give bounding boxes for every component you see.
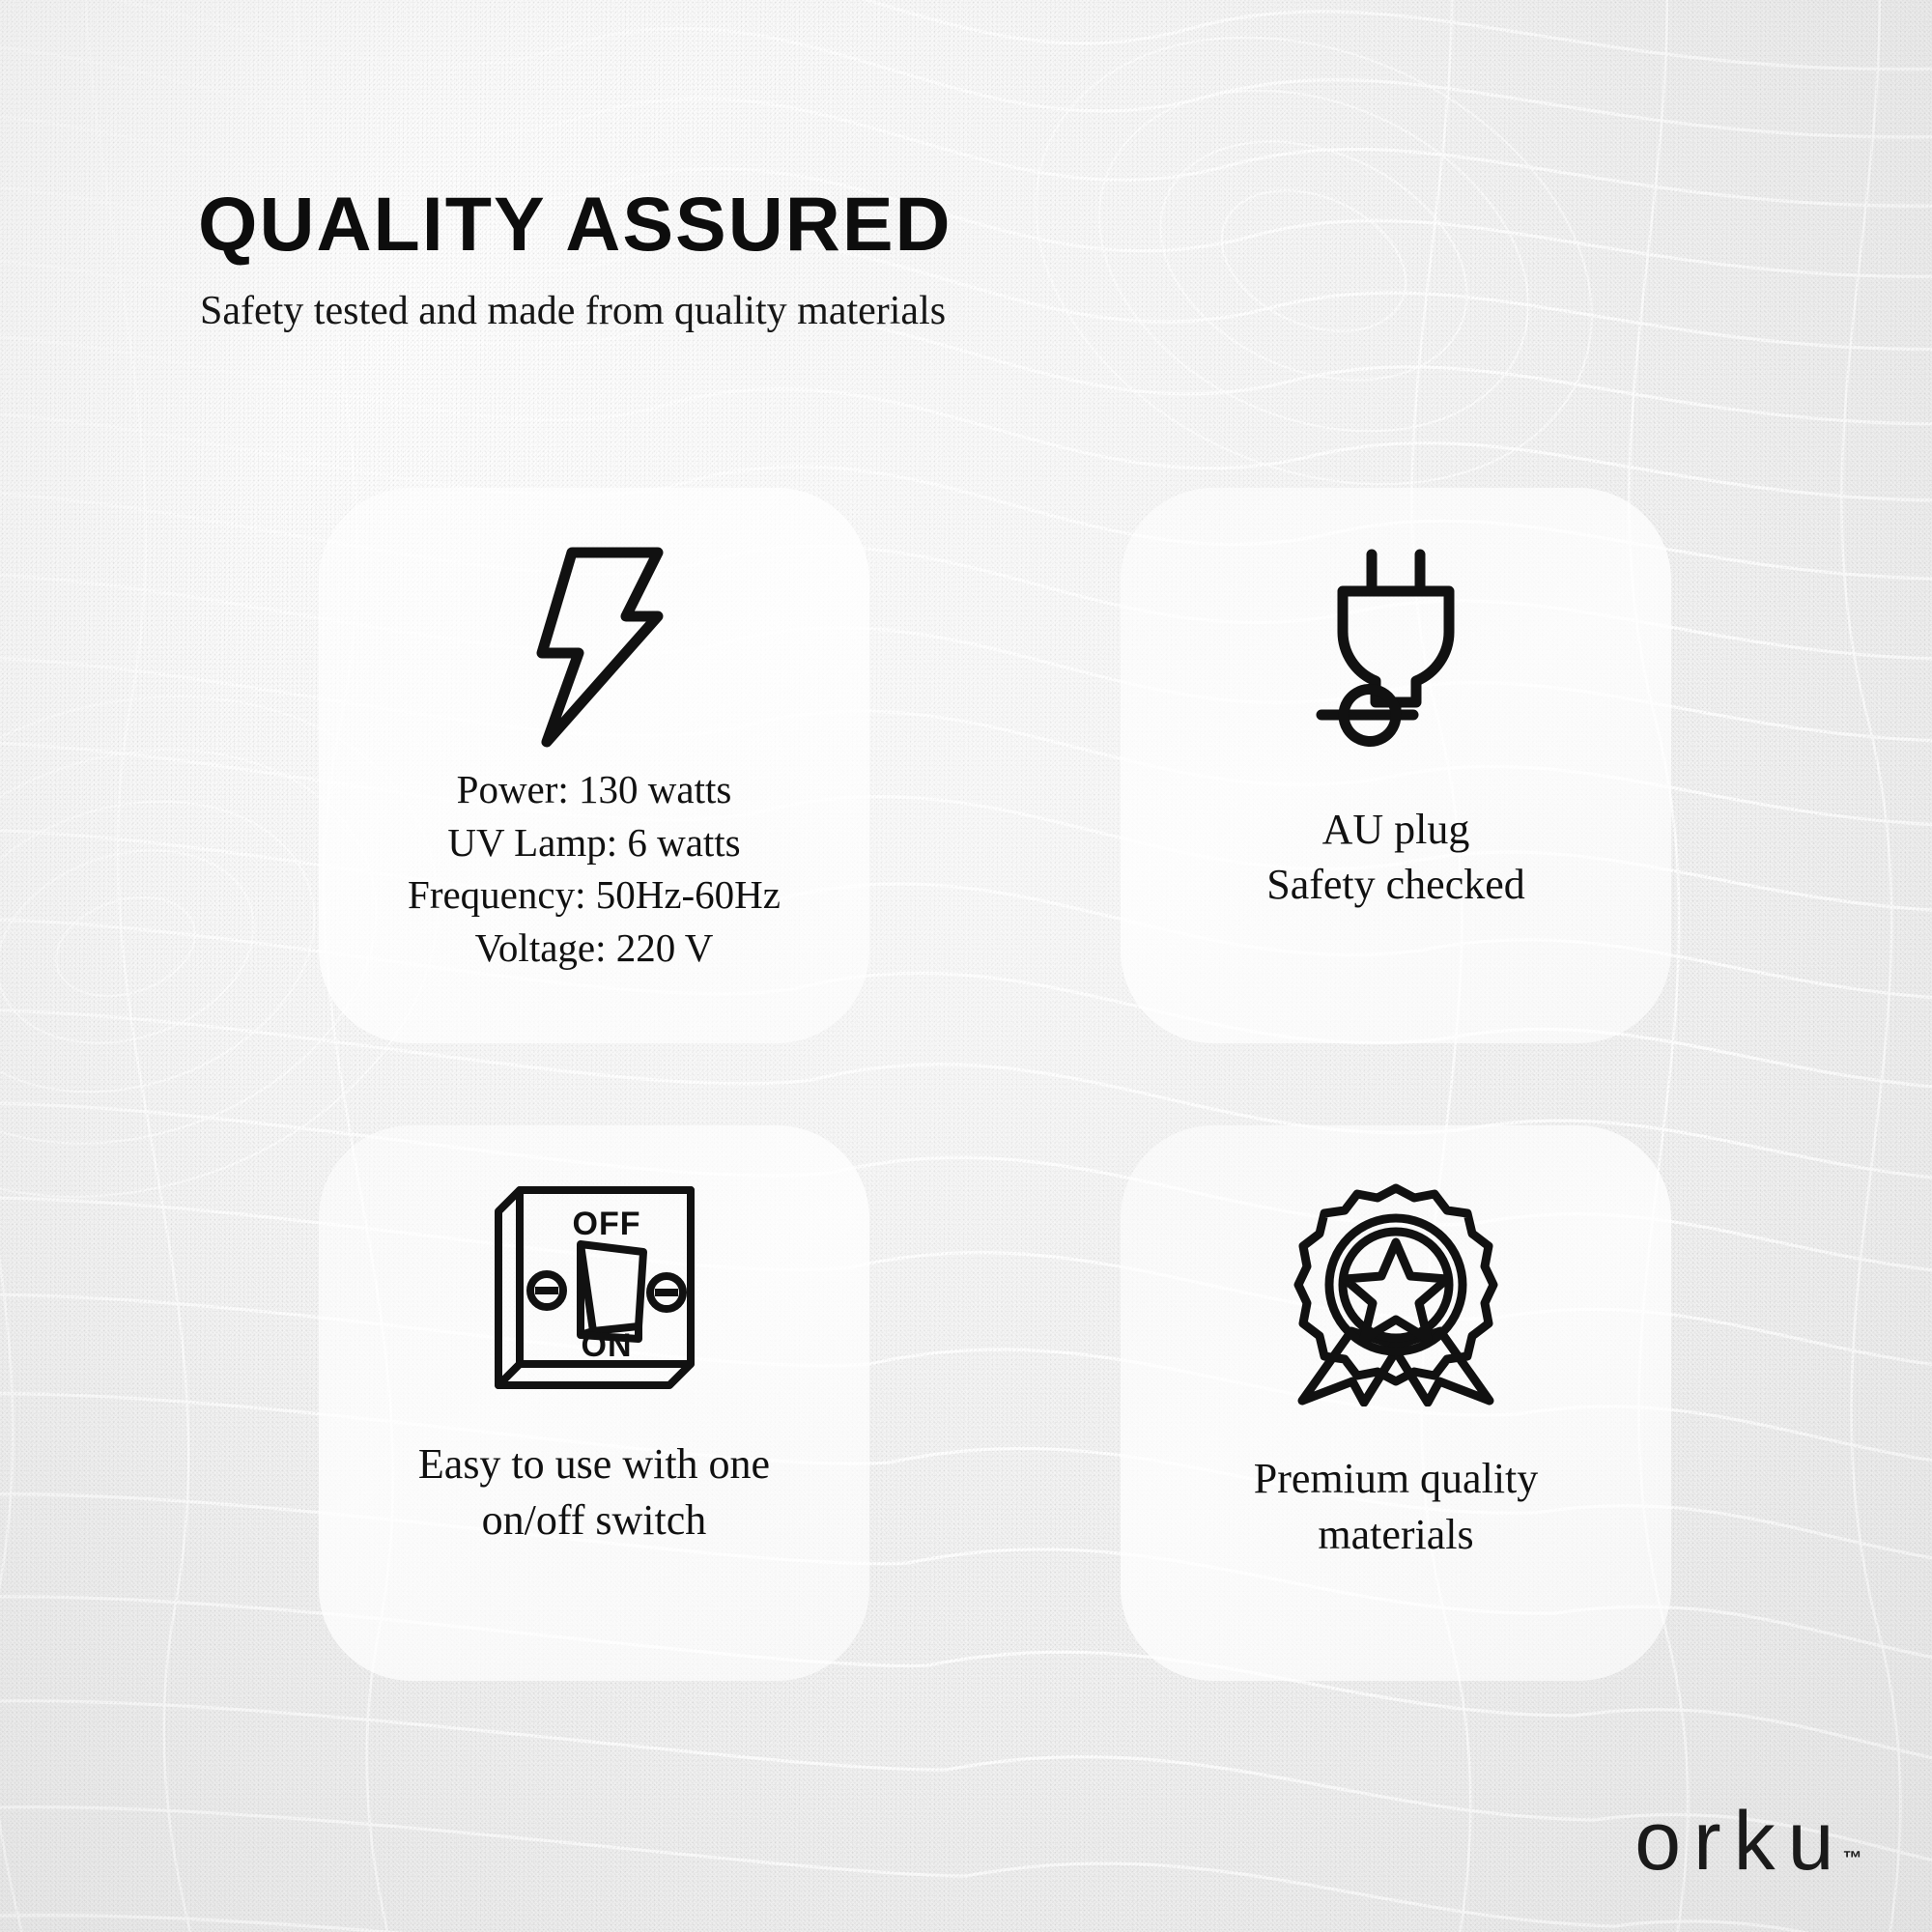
feature-card-plug: AU plug Safety checked <box>1121 488 1671 1043</box>
power-plug-icon <box>1121 538 1671 752</box>
page-subtitle: Safety tested and made from quality mate… <box>200 289 1454 333</box>
svg-text:OFF: OFF <box>572 1206 640 1242</box>
plug-description: AU plug Safety checked <box>1249 802 1543 912</box>
quality-description: Premium quality materials <box>1236 1451 1556 1563</box>
page-title: QUALITY ASSURED <box>198 185 1454 262</box>
trademark-symbol: ™ <box>1843 1848 1863 1870</box>
award-ribbon-icon <box>1121 1176 1671 1412</box>
feature-card-grid: Power: 130 watts UV Lamp: 6 watts Freque… <box>319 488 1671 1681</box>
header-block: QUALITY ASSURED Safety tested and made f… <box>198 185 1454 333</box>
lightning-bolt-icon <box>319 538 869 755</box>
switch-description: Easy to use with one on/off switch <box>401 1436 787 1548</box>
infographic-canvas: QUALITY ASSURED Safety tested and made f… <box>0 0 1932 1932</box>
feature-card-quality: Premium quality materials <box>1121 1125 1671 1681</box>
brand-logo-wordmark: orku <box>1634 1803 1846 1882</box>
feature-card-switch: OFF ON <box>319 1125 869 1681</box>
brand-logo: orku ™ <box>1634 1803 1862 1882</box>
light-switch-icon: OFF ON <box>319 1176 869 1398</box>
specification-list: Power: 130 watts UV Lamp: 6 watts Freque… <box>390 763 798 974</box>
feature-card-specifications: Power: 130 watts UV Lamp: 6 watts Freque… <box>319 488 869 1043</box>
